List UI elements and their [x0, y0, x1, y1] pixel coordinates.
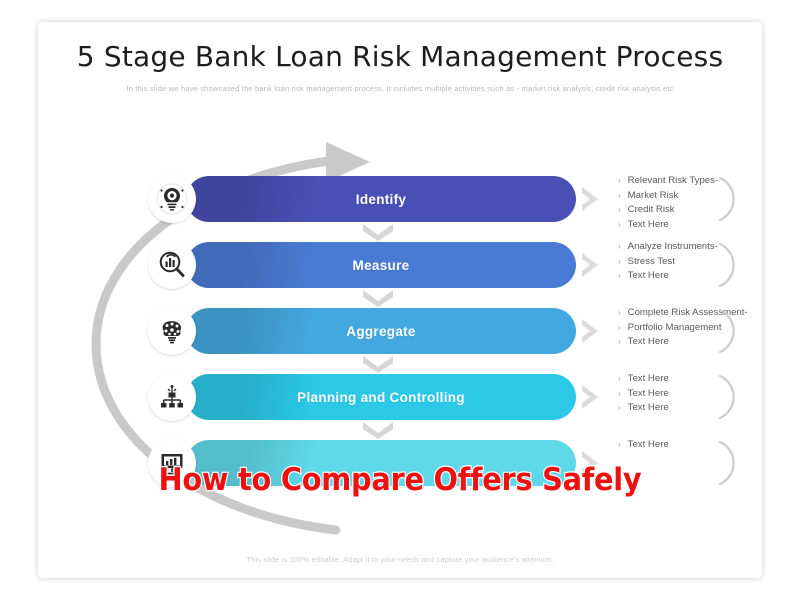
stage-bar-measure[interactable]: Measure: [186, 242, 576, 288]
bullet-text: Analyze Instruments-: [628, 240, 718, 255]
list-item: ›Market Risk: [618, 189, 800, 204]
bullet-marker-icon: ›: [618, 321, 621, 336]
list-item: ›Text Here: [618, 372, 800, 387]
bullet-text: Text Here: [628, 269, 669, 284]
right-chevron-icon: [578, 382, 604, 417]
stage-ring-icon: [712, 306, 762, 356]
list-item: ›Text Here: [618, 387, 800, 402]
stage-bar-identify[interactable]: Identify: [186, 176, 576, 222]
bullet-text: Text Here: [628, 438, 669, 453]
bullet-text: Stress Test: [628, 255, 675, 270]
stage-label: Measure: [353, 258, 410, 273]
right-chevron-icon: [578, 250, 604, 285]
org-chart-icon: [148, 373, 196, 421]
bullet-text: Portfolio Management: [628, 321, 722, 336]
bullet-text: Text Here: [628, 372, 669, 387]
bullet-text: Text Here: [628, 401, 669, 416]
slide-footer-note: This slide is 100% editable. Adapt it to…: [38, 555, 762, 564]
list-item: ›Text Here: [618, 401, 800, 416]
bullet-marker-icon: ›: [618, 401, 621, 416]
bullet-marker-icon: ›: [618, 203, 621, 218]
stage-row: Aggregate: [148, 308, 748, 354]
bullet-marker-icon: ›: [618, 218, 621, 233]
list-item: ›Analyze Instruments-: [618, 240, 800, 255]
connector-chevron-icon: [361, 288, 395, 308]
stage-label: Planning and Controlling: [297, 390, 465, 405]
stage-bullets: ›Text Here: [618, 438, 800, 453]
stage-bullets: ›Text Here ›Text Here ›Text Here: [618, 372, 800, 416]
bullet-text: Market Risk: [628, 189, 679, 204]
list-item: ›Text Here: [618, 438, 800, 453]
stage-ring-icon: [712, 372, 762, 422]
lightbulb-gear-icon: [148, 175, 196, 223]
right-chevron-icon: [578, 184, 604, 219]
stage-bullets: ›Analyze Instruments- ›Stress Test ›Text…: [618, 240, 800, 284]
connector-chevron-icon: [361, 222, 395, 242]
stage-bar-planning-and-controlling[interactable]: Planning and Controlling: [186, 374, 576, 420]
stage-label: Aggregate: [346, 324, 415, 339]
list-item: ›Text Here: [618, 335, 800, 350]
bullet-text: Relevant Risk Types-: [628, 174, 718, 189]
list-item: ›Text Here: [618, 218, 800, 233]
stage-bar-aggregate[interactable]: Aggregate: [186, 308, 576, 354]
list-item: ›Stress Test: [618, 255, 800, 270]
connector-chevron-icon: [361, 420, 395, 440]
bullet-marker-icon: ›: [618, 269, 621, 284]
bullet-marker-icon: ›: [618, 438, 621, 453]
overlay-headline: How to Compare Offers Safely: [28, 462, 772, 498]
list-item: ›Complete Risk Assessment-: [618, 306, 800, 321]
stage-label: Identify: [356, 192, 406, 207]
bullet-marker-icon: ›: [618, 240, 621, 255]
bullet-marker-icon: ›: [618, 189, 621, 204]
stage-row: Planning and Controlling: [148, 374, 748, 420]
bullet-marker-icon: ›: [618, 372, 621, 387]
magnifier-chart-icon: [148, 241, 196, 289]
bullet-text: Text Here: [628, 387, 669, 402]
stage-bullets: ›Complete Risk Assessment- ›Portfolio Ma…: [618, 306, 800, 350]
stage-bullets: ›Relevant Risk Types- ›Market Risk ›Cred…: [618, 174, 800, 232]
stage-row: Measure ›Analyze Instruments-: [148, 242, 748, 288]
list-item: ›Relevant Risk Types-: [618, 174, 800, 189]
list-item: ›Portfolio Management: [618, 321, 800, 336]
list-item: ›Text Here: [618, 269, 800, 284]
right-chevron-icon: [578, 316, 604, 351]
brain-network-icon: [148, 307, 196, 355]
bullet-text: Credit Risk: [628, 203, 675, 218]
stage-row: Identify: [148, 176, 748, 222]
stage-ring-icon: [712, 240, 762, 290]
bullet-text: Text Here: [628, 218, 669, 233]
list-item: ›Credit Risk: [618, 203, 800, 218]
bullet-marker-icon: ›: [618, 387, 621, 402]
bullet-marker-icon: ›: [618, 335, 621, 350]
page-title: 5 Stage Bank Loan Risk Management Proces…: [38, 40, 762, 73]
bullet-marker-icon: ›: [618, 255, 621, 270]
slide-subtitle: In this slide we have showcased the bank…: [48, 84, 752, 93]
bullet-text: Text Here: [628, 335, 669, 350]
connector-chevron-icon: [361, 354, 395, 374]
bullet-marker-icon: ›: [618, 306, 621, 321]
stage-ring-icon: [712, 174, 762, 224]
bullet-marker-icon: ›: [618, 174, 621, 189]
